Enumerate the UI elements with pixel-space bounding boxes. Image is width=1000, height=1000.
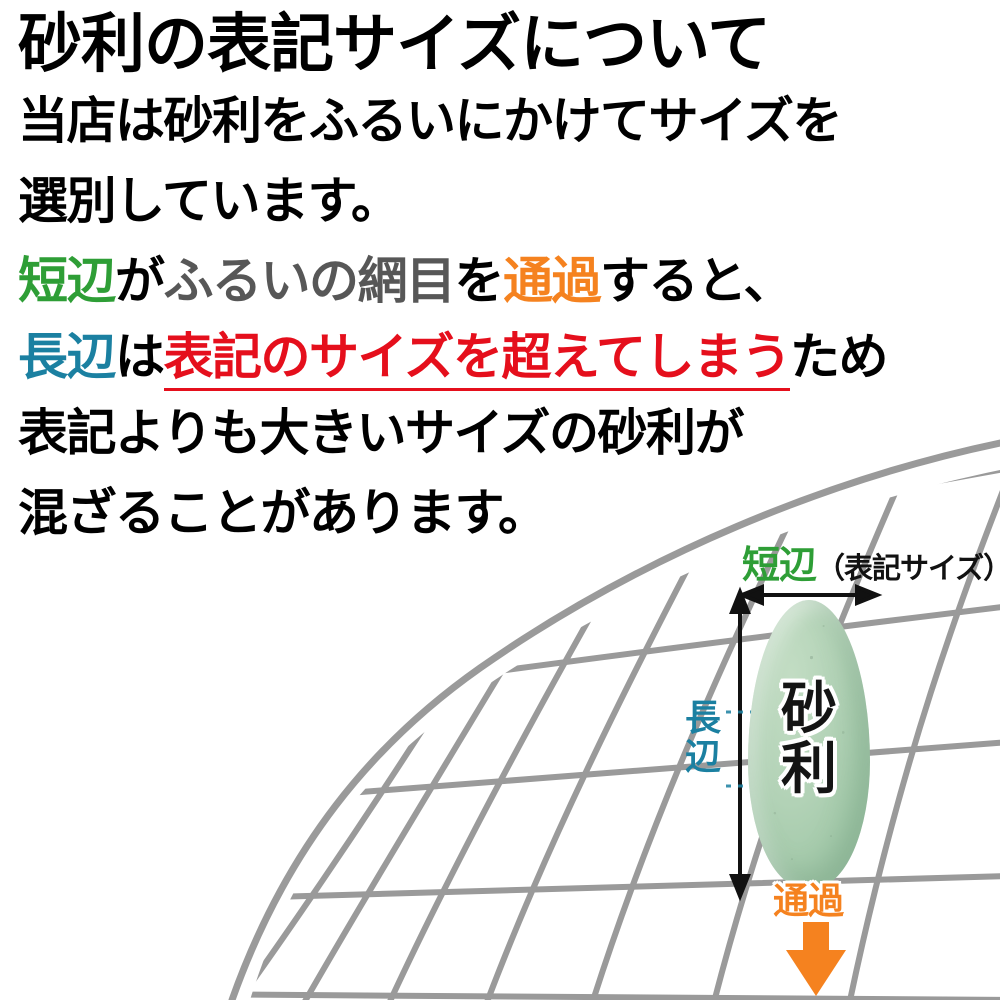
body-line-3-seg2: が bbox=[115, 252, 164, 310]
pass-through-label: 通過 bbox=[773, 884, 843, 920]
pass-through-arrow bbox=[786, 922, 846, 996]
body-line-4-seg4: ため bbox=[790, 328, 887, 386]
stone-label: 砂 利 bbox=[748, 680, 870, 801]
body-line-3-seg4: を bbox=[455, 252, 504, 310]
body-line-4-seg2: は bbox=[115, 328, 164, 386]
body-line-3-seg6: すると、 bbox=[600, 252, 792, 310]
long-side-label: 長 辺 bbox=[682, 700, 724, 778]
explanation-text-block: 砂利の表記サイズについて 当店は砂利をふるいにかけてサイズを 選別しています。 … bbox=[18, 10, 993, 568]
body-line-1: 当店は砂利をふるいにかけてサイズを bbox=[18, 96, 993, 146]
body-line-4: 長辺は表記のサイズを超えてしまうため bbox=[18, 332, 993, 382]
short-side-keyword: 短辺 bbox=[18, 252, 115, 310]
pass-through-keyword: 通過 bbox=[503, 252, 600, 310]
sieve-mesh-keyword: ふるいの網目 bbox=[164, 252, 455, 310]
long-side-keyword: 長辺 bbox=[18, 328, 115, 386]
exceeds-size-emphasis: 表記のサイズを超えてしまう bbox=[164, 328, 791, 391]
long-side-label-char-2: 辺 bbox=[682, 739, 724, 778]
page-title: 砂利の表記サイズについて bbox=[18, 10, 993, 82]
body-line-2: 選別しています。 bbox=[18, 176, 993, 226]
long-side-label-char-1: 長 bbox=[682, 700, 724, 739]
body-line-5: 表記よりも大きいサイズの砂利が bbox=[18, 408, 993, 458]
stone-label-char-1: 砂 bbox=[748, 680, 870, 740]
body-line-3: 短辺がふるいの網目を通過すると、 bbox=[18, 256, 993, 306]
body-line-6: 混ざることがあります。 bbox=[18, 488, 993, 538]
stone-label-char-2: 利 bbox=[748, 740, 870, 800]
